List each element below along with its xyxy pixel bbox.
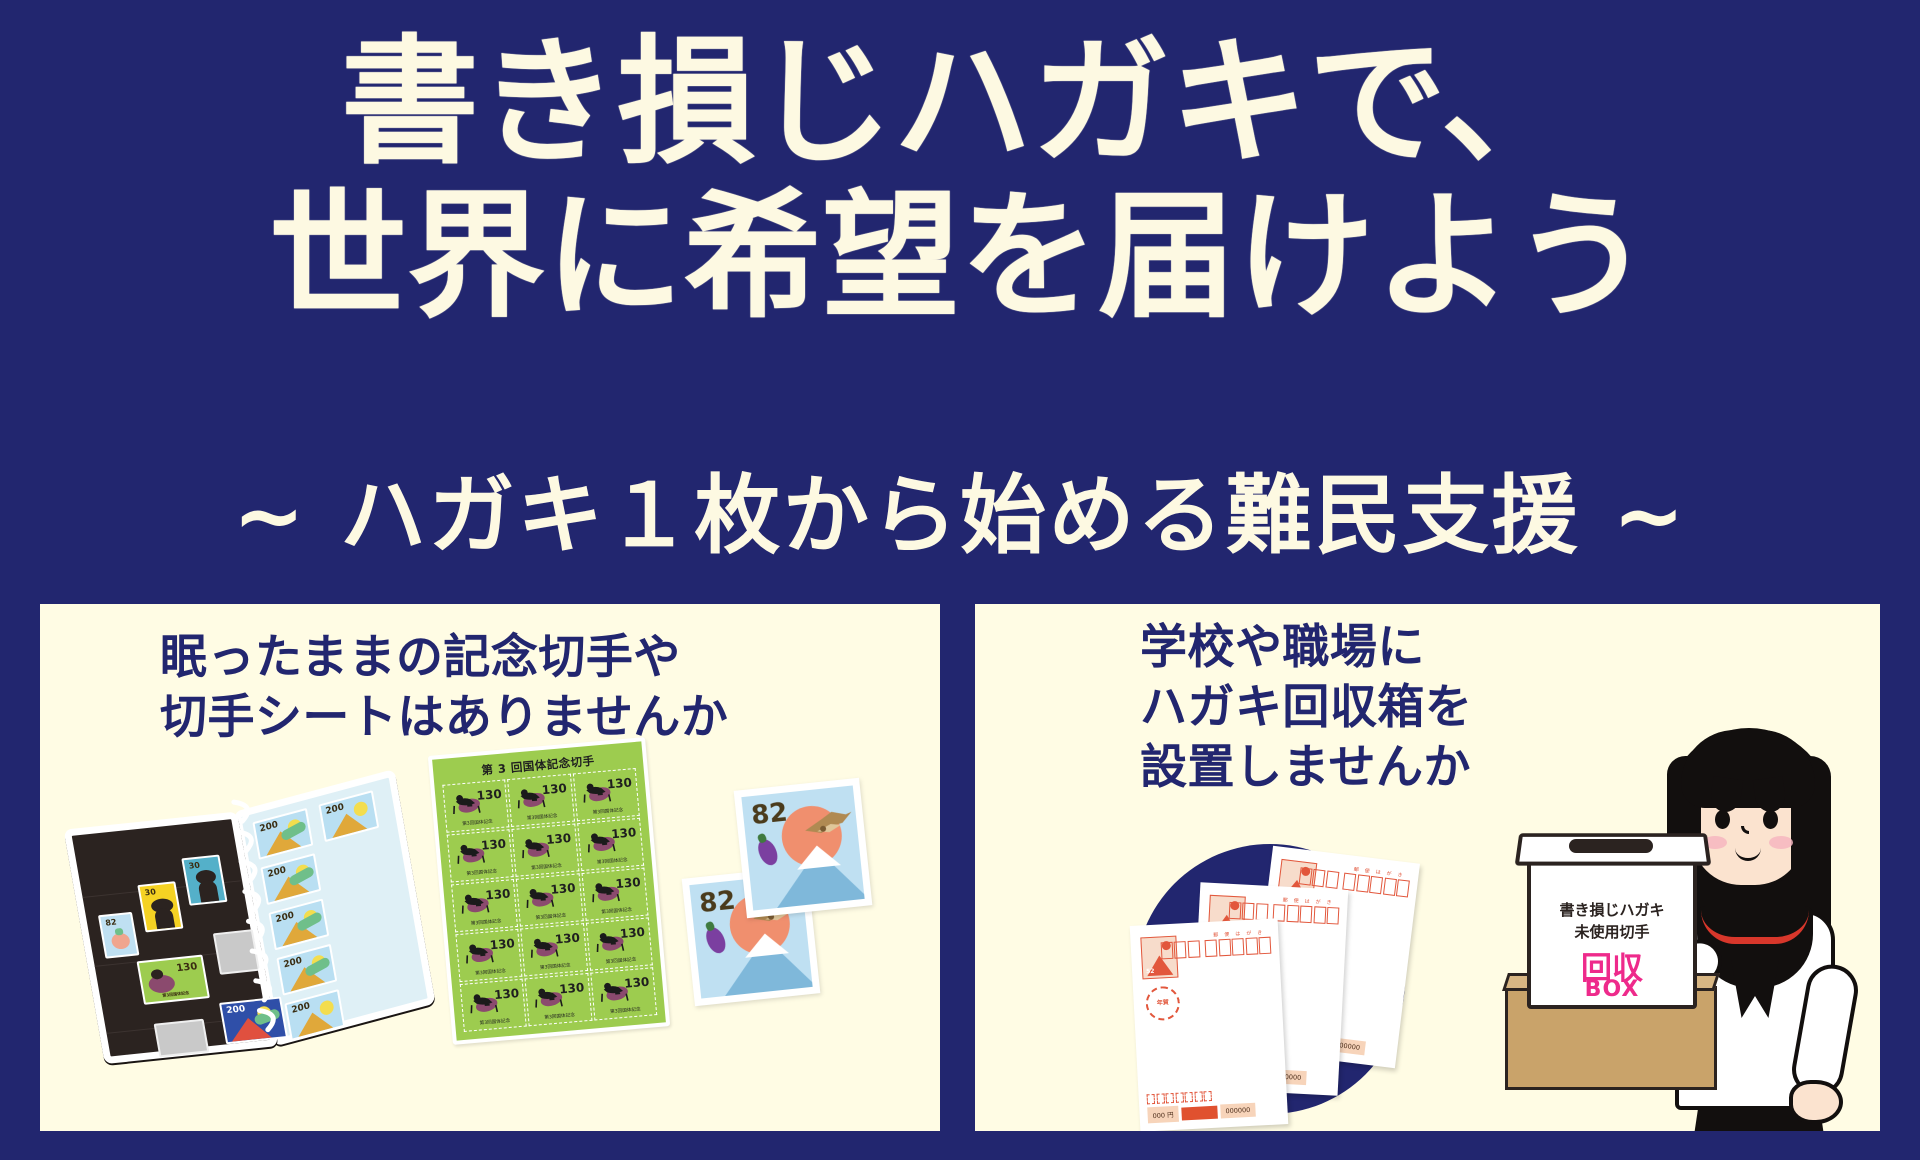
sheet-stamp-value: 130 (611, 825, 637, 841)
sheet-stamp-caption: 第3回国体記念 (523, 911, 580, 922)
sheet-stamp-caption: 第3回国体記念 (532, 1010, 589, 1021)
sheet-stamp-caption: 第3回国体記念 (449, 817, 506, 828)
album-stamp: 82 (98, 912, 140, 959)
stamp-82-value: 82 (750, 798, 789, 832)
box-line-2: 未使用切手 (1531, 921, 1693, 942)
hawk-icon (801, 808, 856, 843)
sheet-stamp: 130第3回国体記念 (520, 923, 587, 976)
sheet-stamp: 130第3回国体記念 (590, 967, 657, 1020)
sheet-stamp-value: 130 (541, 781, 567, 797)
postcard-nengajo-seal: 年賀 (1145, 986, 1181, 1022)
eye-right (1763, 810, 1778, 829)
postcard-redbar (1181, 1105, 1218, 1120)
sheet-stamp-caption: 第3回国体記念 (514, 811, 571, 822)
sheet-stamp: 130第3回国体記念 (586, 917, 653, 970)
stamp-album-illustration: 200 200 200 200 (61, 765, 425, 1103)
postcard-stamp-value: 52 (1146, 968, 1155, 975)
sheet-stamp: 130第3回国体記念 (442, 779, 509, 832)
sheet-stamp-value: 130 (554, 931, 580, 947)
sheet-stamp-value: 130 (494, 986, 520, 1002)
sailor-collar-red-stripe (1701, 910, 1809, 944)
sheet-stamp-value: 130 (476, 787, 502, 803)
sheet-stamp-caption: 第3回国体記念 (462, 966, 519, 977)
collection-box-body: 書き損じハガキ 未使用切手 回収 BOX (1527, 859, 1697, 1009)
album-stamp: 30 (137, 881, 183, 932)
commemorative-stamp-sheet: 第 3 回国体記念切手 130第3回国体記念130第3回国体記念130第3回国体… (428, 737, 670, 1045)
sheet-stamp-caption: 第3回国体記念 (453, 867, 510, 878)
sheet-stamp-caption: 第3回国体記念 (584, 855, 641, 866)
collection-box-slot (1569, 839, 1653, 853)
sheet-stamp: 130第3回国体記念 (455, 929, 522, 982)
album-stamp: 30 (181, 855, 227, 906)
sheet-stamp-value: 130 (615, 875, 641, 891)
postcard-amount: 000 円 (1147, 1106, 1179, 1124)
sheet-stamp-value: 130 (619, 925, 645, 941)
sheet-stamp-caption: 第3回国体記念 (588, 905, 645, 916)
sheet-stamp-caption: 第3回国体記念 (597, 1005, 654, 1016)
sheet-stamp: 130第3回国体記念 (512, 823, 579, 876)
fuji-snowcap-icon (743, 931, 789, 957)
sheet-stamp-value: 130 (546, 831, 572, 847)
sheet-stamp-value: 130 (559, 980, 585, 996)
postcard-zip-boxes (1160, 937, 1271, 960)
sheet-stamp-value: 130 (489, 936, 515, 952)
stamp-82-a: 82 (734, 778, 873, 918)
headline-line-2: 世界に希望を届けよう (0, 184, 1920, 330)
right-panel: 学校や職場に ハガキ回収箱を 設置しませんか 52 郵便はがき 000 円 00… (975, 604, 1880, 1131)
blush-right (1769, 836, 1793, 849)
sheet-stamp-value: 130 (485, 886, 511, 902)
box-line-4: BOX (1531, 977, 1693, 1002)
sheet-stamp: 130第3回国体記念 (577, 818, 644, 871)
sheet-stamp-caption: 第3回国体記念 (518, 861, 575, 872)
fuji-snowcap-icon (795, 843, 841, 869)
sheet-stamp: 130第3回国体記念 (573, 768, 640, 821)
sheet-stamp-value: 130 (624, 975, 650, 991)
hand-right (1789, 1080, 1843, 1124)
sheet-stamp: 130第3回国体記念 (460, 979, 527, 1032)
poster-headline: 書き損じハガキで、 世界に希望を届けよう (0, 30, 1920, 331)
poster-subtitle: ~ ハガキ１枚から始める難民支援 ~ (0, 445, 1920, 570)
box-line-1: 書き損じハガキ (1531, 899, 1693, 920)
eye-left (1715, 810, 1730, 829)
sheet-stamp-caption: 第3回国体記念 (527, 961, 584, 972)
postcard-serial: 000000 (1220, 1103, 1256, 1119)
sheet-stamp: 130第3回国体記念 (516, 873, 583, 926)
sheet-stamp-caption: 第3回国体記念 (579, 805, 636, 816)
sheet-stamp-caption: 第3回国体記念 (466, 1016, 523, 1027)
sheet-stamp: 130第3回国体記念 (451, 879, 518, 932)
left-panel-copy: 眠ったままの記念切手や 切手シートはありませんか (160, 628, 728, 748)
sheet-stamp-caption: 第3回国体記念 (592, 955, 649, 966)
hair-fringe (1681, 730, 1815, 808)
sheet-stamp: 130第3回国体記念 (507, 774, 574, 827)
sheet-stamp-value: 130 (480, 837, 506, 853)
sheet-stamp-caption: 第3回国体記念 (458, 916, 515, 927)
poster-root: 書き損じハガキで、 世界に希望を届けよう ~ ハガキ１枚から始める難民支援 ~ … (0, 0, 1920, 1160)
sheet-stamp-grid: 130第3回国体記念130第3回国体記念130第3回国体記念130第3回国体記念… (442, 768, 657, 1032)
sheet-stamp-value: 130 (550, 881, 576, 897)
right-panel-copy: 学校や職場に ハガキ回収箱を 設置しませんか (1140, 618, 1472, 798)
stamp-82-value: 82 (698, 886, 737, 920)
sheet-stamp: 130第3回国体記念 (525, 973, 592, 1026)
sheet-stamp: 130第3回国体記念 (581, 868, 648, 921)
album-empty-slot (154, 1019, 210, 1058)
left-panel: 眠ったままの記念切手や 切手シートはありませんか 200 200 200 (40, 604, 940, 1131)
collection-box-scene: 田中 貴男 様 東京都... 書き損じハガキ 未使用切手 回収 BOX (1495, 724, 1875, 1131)
sheet-stamp: 130第3回国体記念 (447, 829, 514, 882)
sheet-stamp-value: 130 (606, 775, 632, 791)
postcard: 52 年賀 郵便はがき 000 円 000000 (1130, 918, 1289, 1131)
album-stamp: 130 第3回国体記念 (137, 955, 210, 1005)
headline-line-1: 書き損じハガキで、 (0, 30, 1920, 176)
